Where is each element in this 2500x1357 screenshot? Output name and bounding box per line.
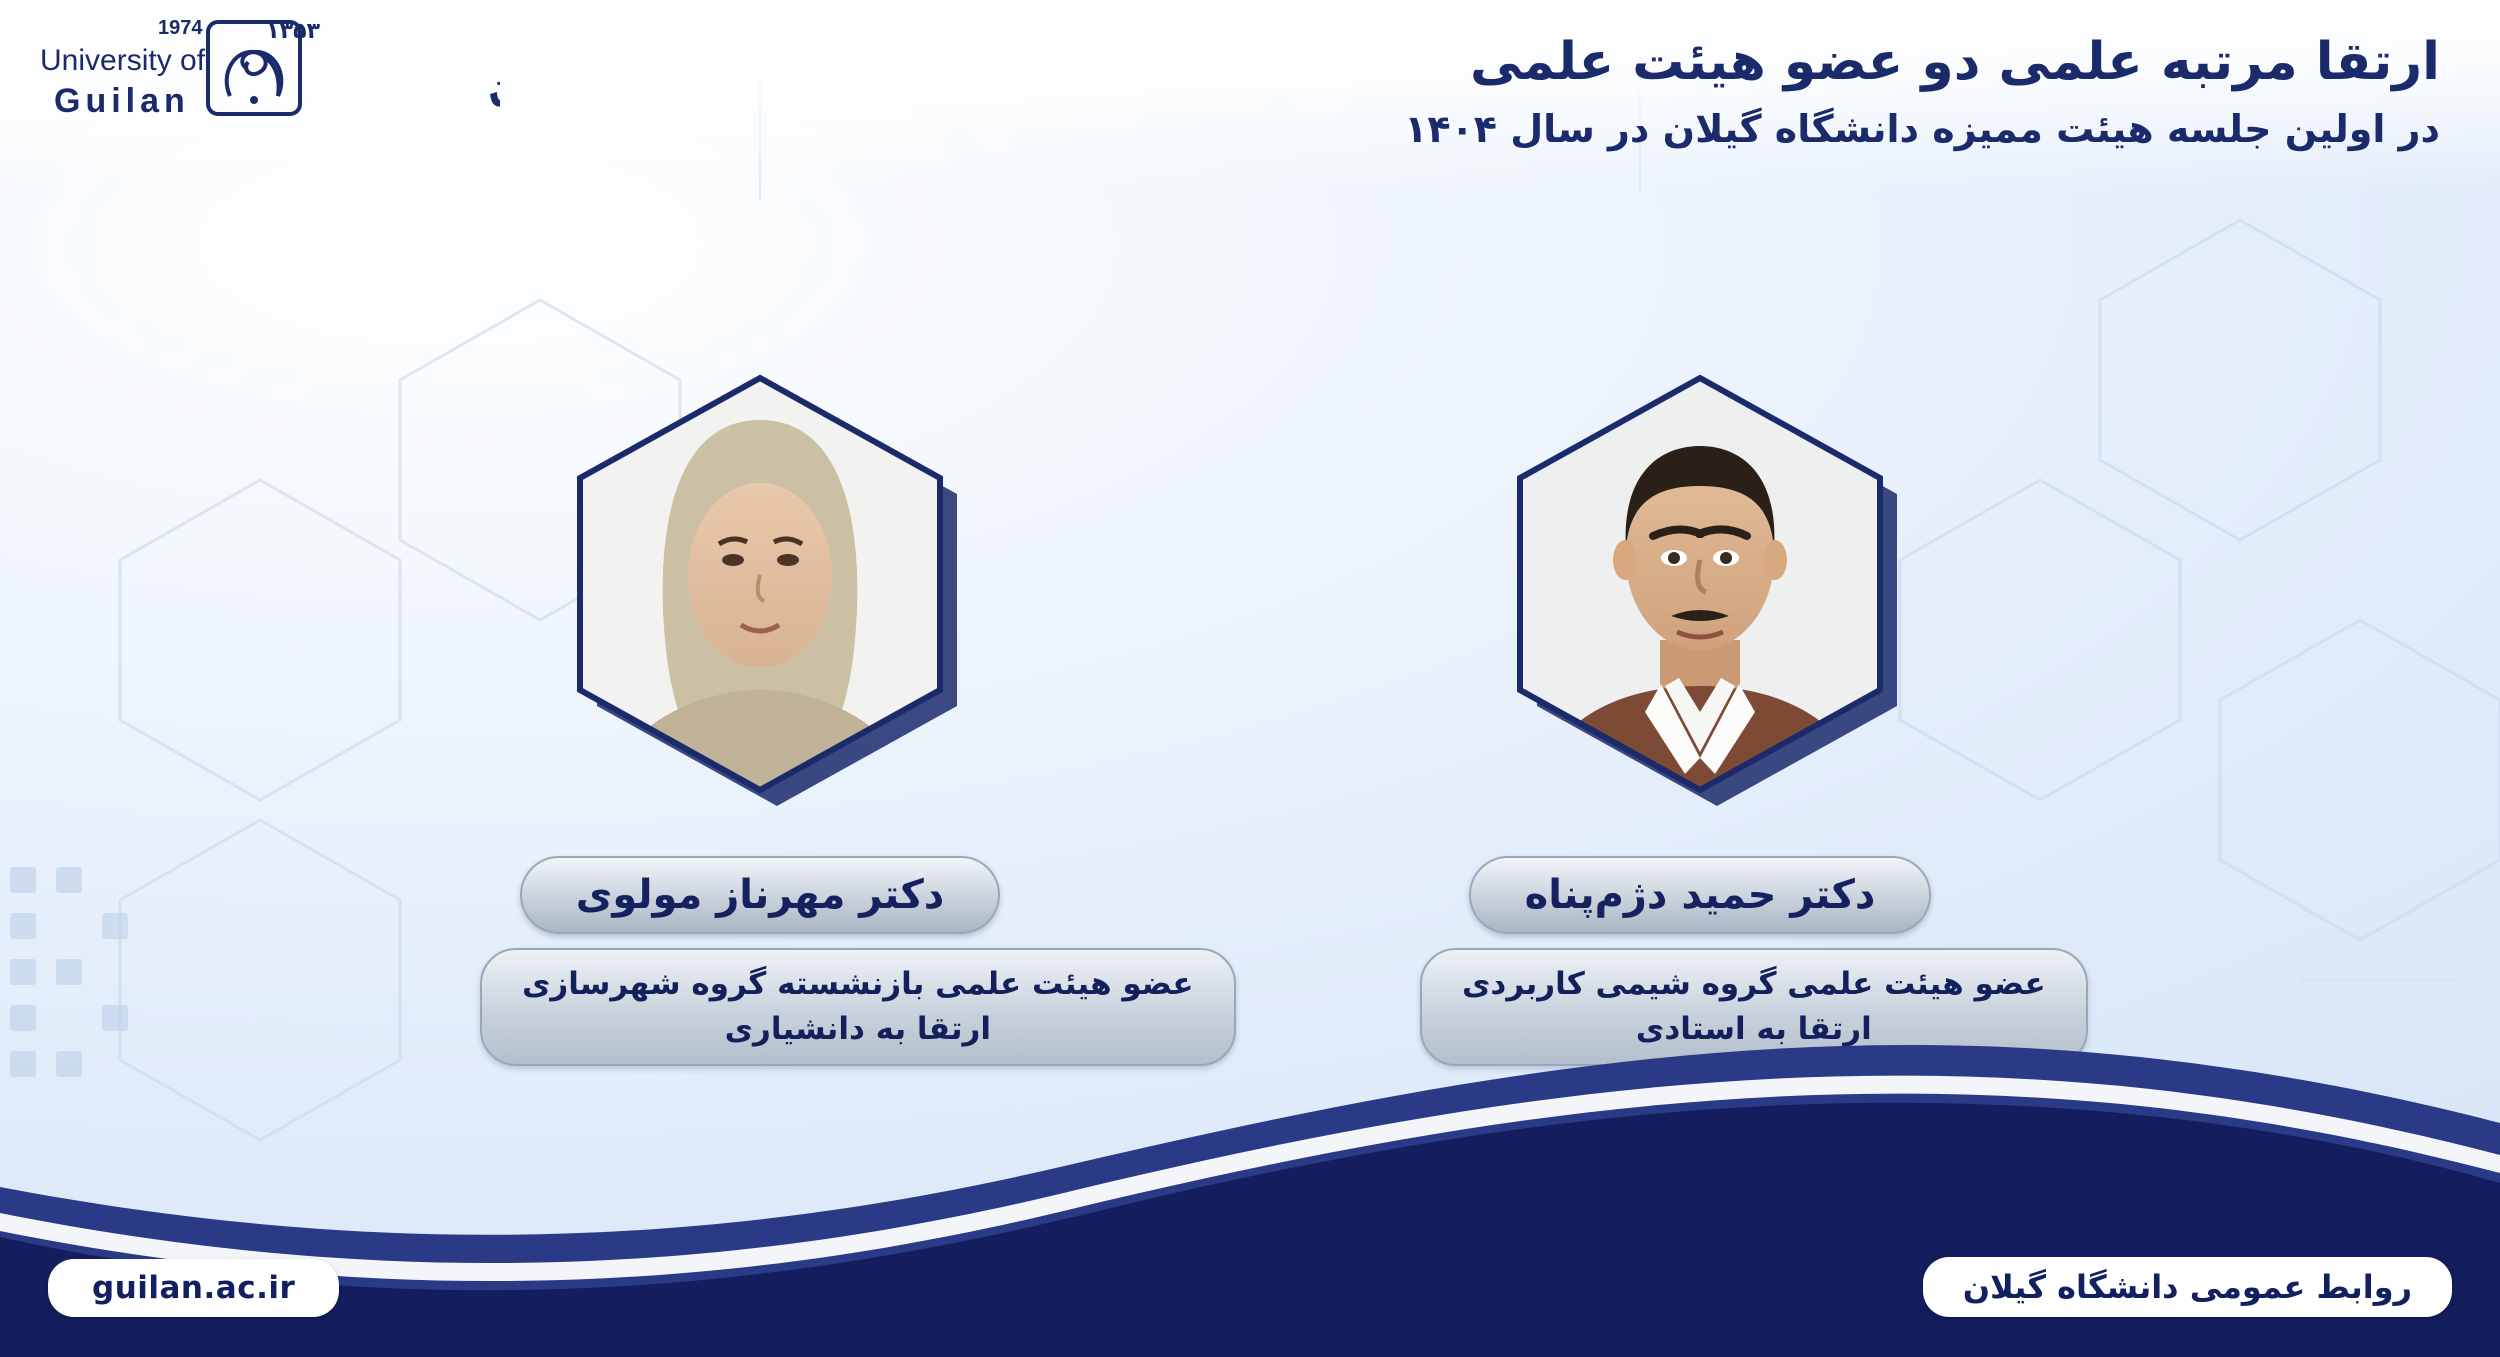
person-name-1: دکتر مهرناز مولوی xyxy=(520,856,1001,934)
header-block: ارتقا مرتبه علمی دو عضو هیئت علمی در اول… xyxy=(1404,30,2440,154)
person-photo-2 xyxy=(1485,360,1915,830)
svg-text:University of: University of xyxy=(40,44,206,77)
public-relations-label: روابط عمومی دانشگاه گیلان xyxy=(1923,1257,2452,1317)
person-name-2: دکتر حمید دژم‌پناه xyxy=(1469,856,1932,934)
svg-text:Guilan: Guilan xyxy=(54,82,190,120)
page-subtitle: در اولین جلسه هیئت ممیزه دانشگاه گیلان د… xyxy=(1404,105,2440,154)
person-photo-1 xyxy=(545,360,975,830)
poster-canvas: University of Guilan 1974 ۱۳۵۳ دانشگاه گ… xyxy=(0,0,2500,1357)
page-title: ارتقا مرتبه علمی دو عضو هیئت علمی xyxy=(1404,30,2440,95)
university-logo-icon: University of Guilan 1974 ۱۳۵۳ دانشگاه گ… xyxy=(30,8,500,138)
website-url[interactable]: guilan.ac.ir xyxy=(48,1259,339,1317)
svg-text:1974: 1974 xyxy=(158,17,203,39)
svg-text:دانشگاه گیلان: دانشگاه گیلان xyxy=(479,8,500,114)
svg-text:۱۳۵۳: ۱۳۵۳ xyxy=(266,19,320,44)
